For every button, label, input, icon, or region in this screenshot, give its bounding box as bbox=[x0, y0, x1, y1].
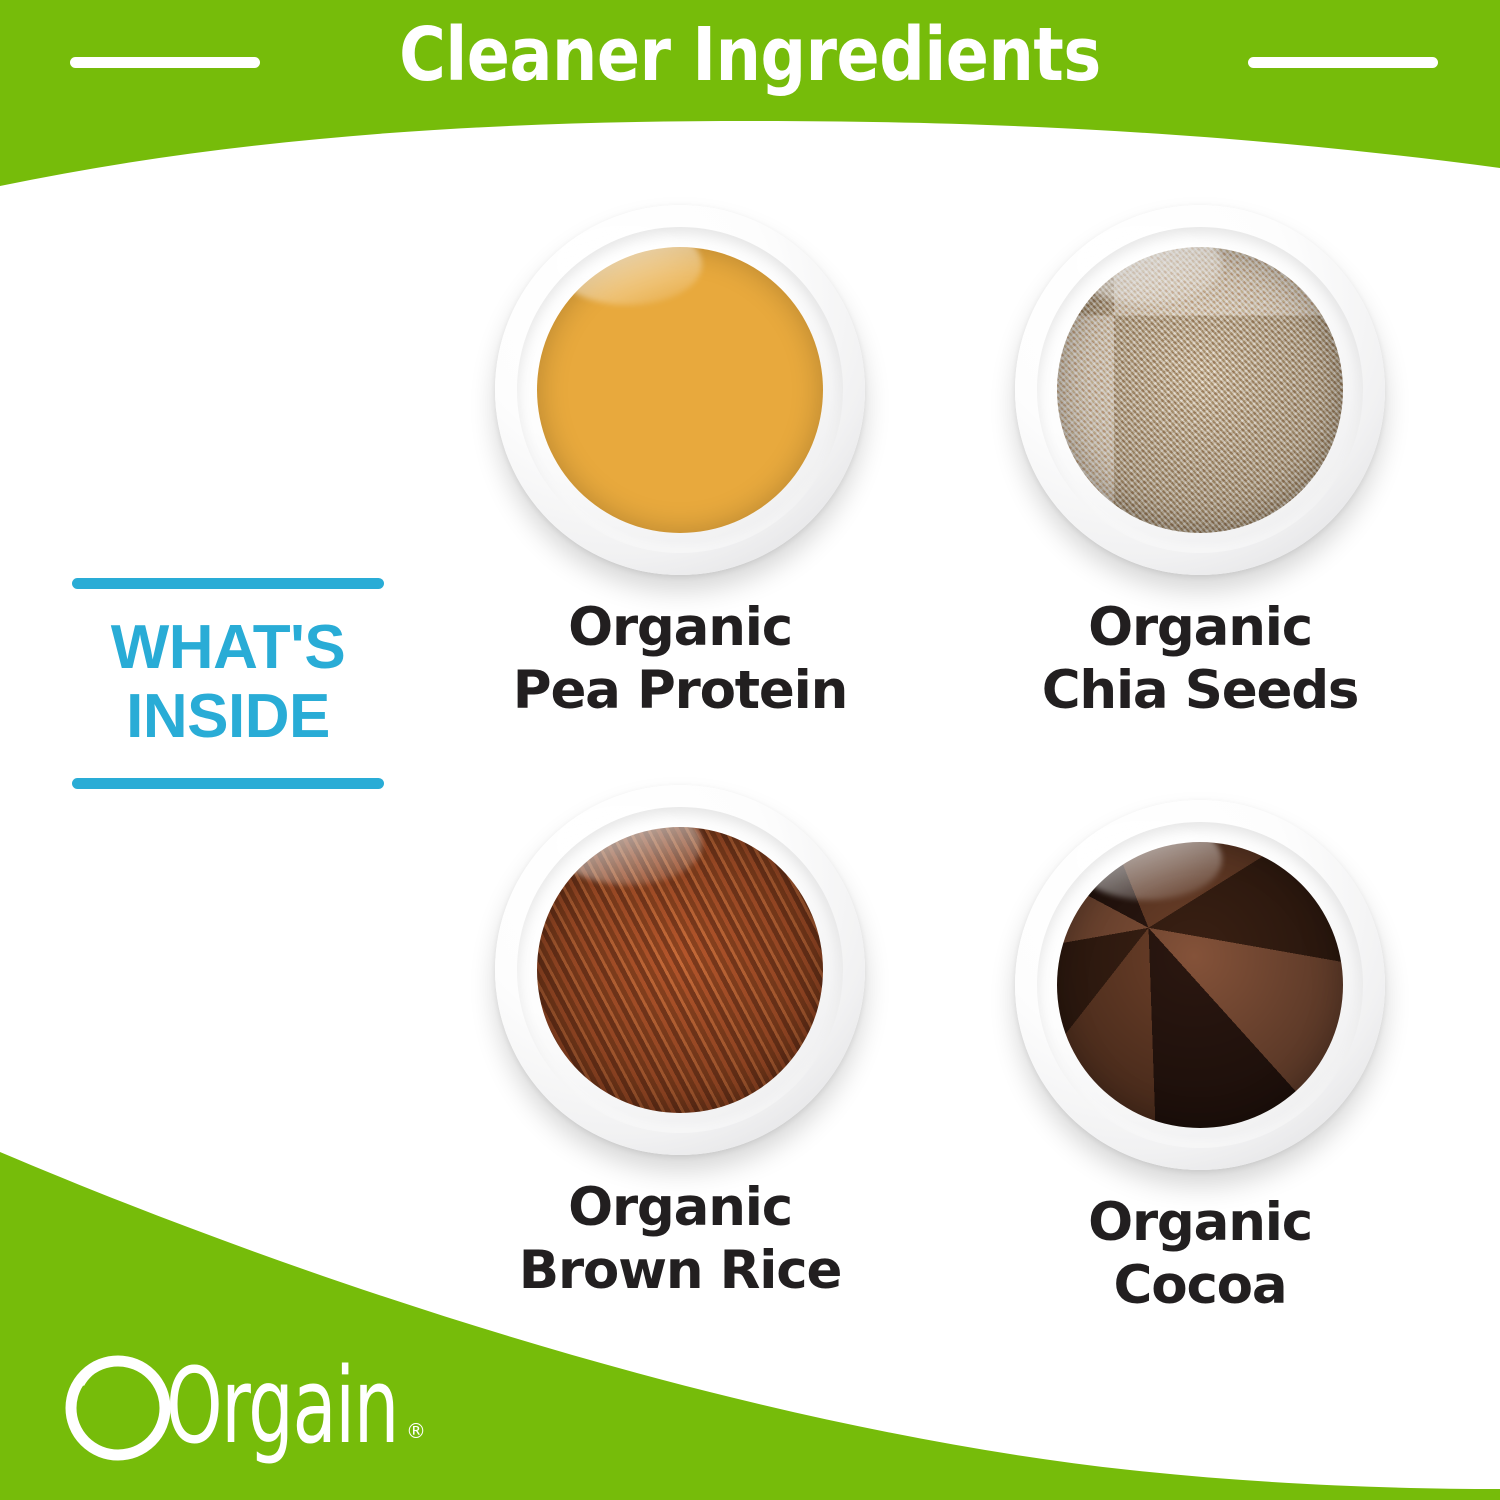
bowl-of-split-peas-icon bbox=[495, 205, 865, 575]
whats-inside-rule-top bbox=[72, 578, 384, 589]
whats-inside-block: WHAT'S INSIDE bbox=[72, 578, 384, 789]
whats-inside-rule-bottom bbox=[72, 778, 384, 789]
header-green-band-shape bbox=[0, 0, 1500, 186]
orgain-wordmark-text: Orgain bbox=[166, 1345, 398, 1467]
orgain-o-mark-icon bbox=[71, 1358, 165, 1455]
registered-trademark-symbol: ® bbox=[406, 1419, 426, 1443]
bowl-of-cocoa-icon bbox=[1015, 800, 1385, 1170]
cocoa-fill bbox=[1057, 842, 1343, 1128]
bowl-of-chia-seeds-icon bbox=[1015, 205, 1385, 575]
ingredient-card-pea-protein: Organic Pea Protein bbox=[480, 205, 880, 722]
ingredient-card-chia-seeds: Organic Chia Seeds bbox=[1000, 205, 1400, 722]
ingredient-label-chia-seeds: Organic Chia Seeds bbox=[1000, 597, 1400, 722]
ingredient-card-brown-rice: Organic Brown Rice bbox=[480, 785, 880, 1302]
orgain-logo: Orgain ® bbox=[62, 1338, 462, 1488]
bowl-of-brown-rice-icon bbox=[495, 785, 865, 1155]
ingredient-card-cocoa: Organic Cocoa bbox=[1000, 800, 1400, 1317]
brown-rice-fill bbox=[537, 827, 823, 1113]
chia-seeds-fill bbox=[1057, 247, 1343, 533]
ingredient-label-pea-protein: Organic Pea Protein bbox=[480, 597, 880, 722]
promo-graphic-canvas: Cleaner Ingredients WHAT'S INSIDE Organi… bbox=[0, 0, 1500, 1500]
ingredient-label-cocoa: Organic Cocoa bbox=[1000, 1192, 1400, 1317]
ingredient-label-brown-rice: Organic Brown Rice bbox=[480, 1177, 880, 1302]
whats-inside-heading: WHAT'S INSIDE bbox=[72, 613, 384, 752]
pea-protein-fill bbox=[537, 247, 823, 533]
